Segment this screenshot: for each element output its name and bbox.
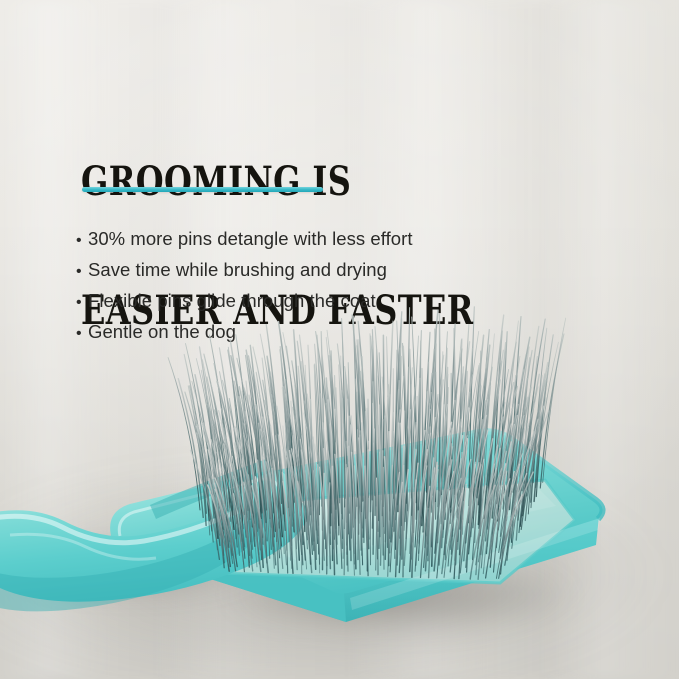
list-item-label: Flexible pins glide through the coat — [88, 290, 376, 312]
bullet-marker-icon: • — [76, 264, 88, 280]
list-item: • Flexible pins glide through the coat — [76, 290, 616, 321]
brush-pins — [0, 330, 679, 679]
accent-divider — [82, 187, 323, 192]
bullet-marker-icon: • — [76, 295, 88, 311]
list-item-label: 30% more pins detangle with less effort — [88, 228, 413, 250]
list-item: • 30% more pins detangle with less effor… — [76, 228, 616, 259]
list-item: • Save time while brushing and drying — [76, 259, 616, 290]
slicker-brush-product — [0, 330, 679, 679]
bullet-marker-icon: • — [76, 233, 88, 249]
product-marketing-image: GROOMING IS EASIER AND FASTER • 30% more… — [0, 0, 679, 679]
list-item-label: Save time while brushing and drying — [88, 259, 387, 281]
headline-line-1: GROOMING IS — [81, 160, 497, 203]
